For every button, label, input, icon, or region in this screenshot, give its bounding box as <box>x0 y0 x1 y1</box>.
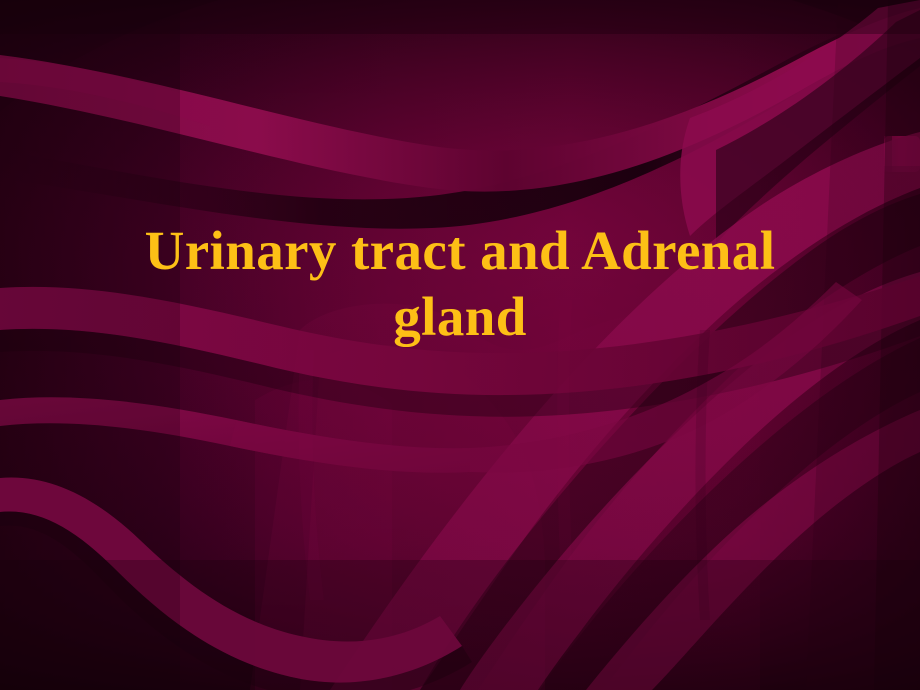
slide-title: Urinary tract and Adrenal gland <box>0 218 920 350</box>
title-line-2: gland <box>60 284 860 350</box>
title-line-1: Urinary tract and Adrenal <box>60 218 860 284</box>
title-slide: Urinary tract and Adrenal gland <box>0 0 920 690</box>
